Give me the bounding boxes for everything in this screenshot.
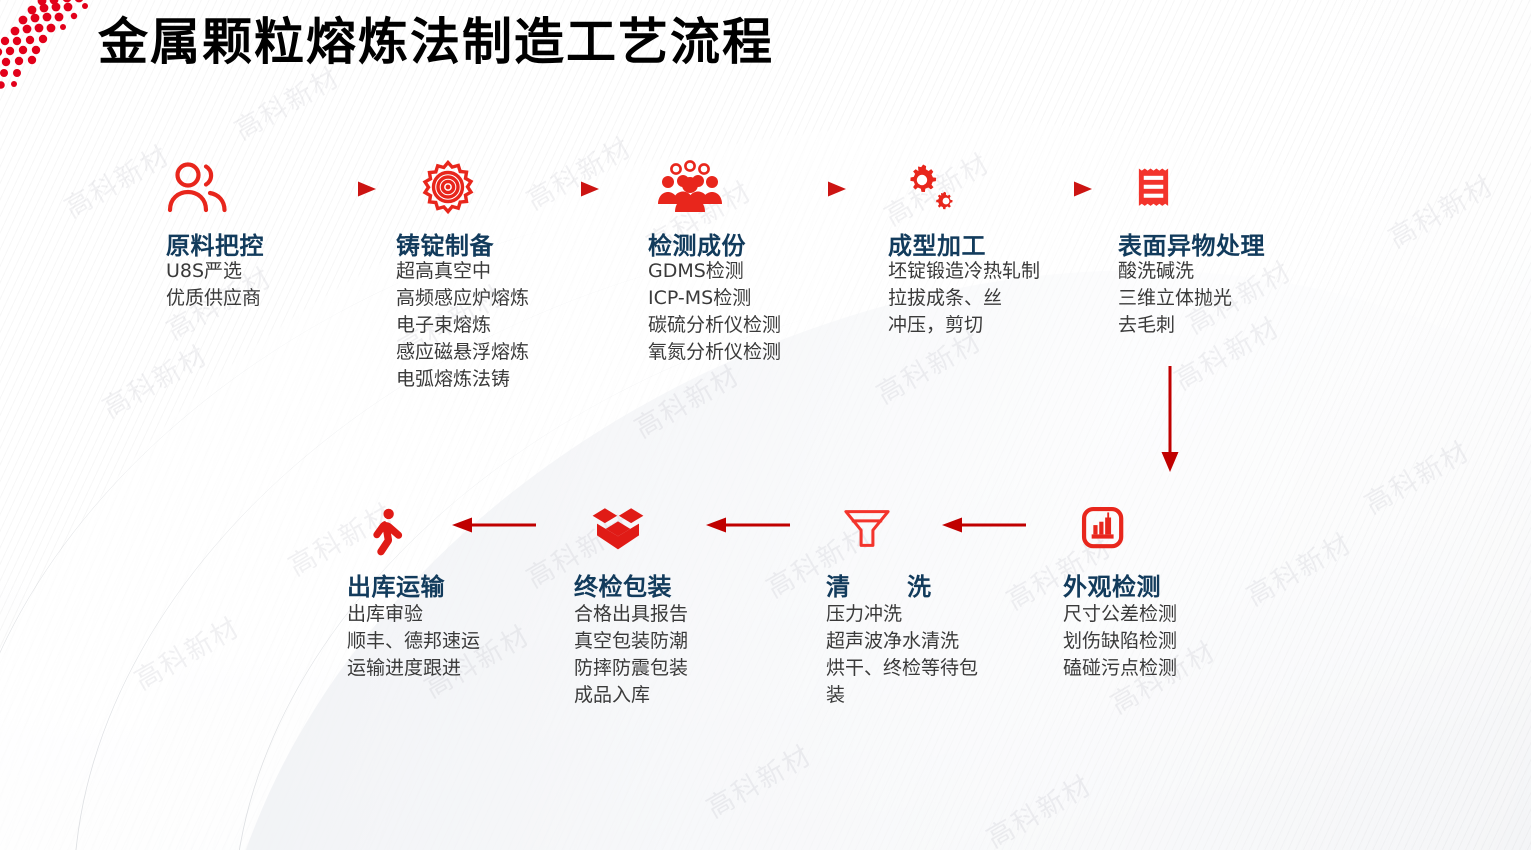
arrow-step3-to-step4 — [762, 178, 852, 200]
flow-step-detail-line: 磕碰污点检测 — [1063, 655, 1273, 682]
process-flow-diagram: 原料把控 U8S严选 优质供应商 铸锭制备 超高真空中 高频感应炉熔炼 电子束熔… — [0, 0, 1531, 850]
flow-step-detail-line: 出库审验 — [347, 601, 557, 628]
flow-step-detail-line: 拉拔成条、丝 — [888, 285, 1118, 312]
flow-step-detail-line: 超声波净水清洗 — [826, 628, 986, 655]
walking-person-icon — [361, 505, 413, 557]
flow-step-detail-list: 超高真空中 高频感应炉熔炼 电子束熔炼 感应磁悬浮熔炼 电弧熔炼法铸 — [396, 258, 606, 393]
page-header: 金属颗粒熔炼法制造工艺流程 — [0, 0, 1531, 100]
arrow-step8-to-step9 — [448, 514, 540, 536]
flow-step-title: 铸锭制备 — [396, 226, 494, 261]
arrow-step1-to-step2 — [292, 178, 382, 200]
flow-step-detail-line: 去毛刺 — [1118, 312, 1328, 339]
gear-target-icon — [416, 160, 480, 218]
flow-step-detail-list: 合格出具报告 真空包装防潮 防摔防震包装 成品入库 — [574, 601, 784, 709]
flow-step-detail-line: 超高真空中 — [396, 258, 606, 285]
flow-step-detail-line: 合格出具报告 — [574, 601, 784, 628]
two-gears-icon — [896, 160, 960, 218]
flow-step-detail-line: 压力冲洗 — [826, 601, 986, 628]
flow-step-detail-line: 坯锭锻造冷热轧制 — [888, 258, 1118, 285]
flow-step-detail-list: GDMS检测 ICP-MS检测 碳硫分析仪检测 氧氮分析仪检测 — [648, 258, 858, 366]
flow-step-detail-list: 出库审验 顺丰、德邦速运 运输进度跟进 — [347, 601, 557, 682]
flow-step-title: 出库运输 — [347, 567, 445, 602]
arrow-step5-to-step6-vertical — [1152, 364, 1188, 476]
arrow-step6-to-step7 — [938, 514, 1030, 536]
flow-step-detail-line: 尺寸公差检测 — [1063, 601, 1273, 628]
flow-step-detail-line: 高频感应炉熔炼 — [396, 285, 606, 312]
flow-step-detail-line: 电子束熔炼 — [396, 312, 606, 339]
flow-step-detail-line: 划伤缺陷检测 — [1063, 628, 1273, 655]
flow-step-detail-line: U8S严选 — [166, 258, 376, 285]
flow-step-detail-line: 顺丰、德邦速运 — [347, 628, 557, 655]
flow-step-detail-line: 酸洗碱洗 — [1118, 258, 1328, 285]
flow-step-title: 终检包装 — [574, 567, 672, 602]
flow-step-detail-line: 电弧熔炼法铸 — [396, 366, 606, 393]
flow-step-detail-line: 三维立体抛光 — [1118, 285, 1328, 312]
flow-step-detail-line: 烘干、终检等待包装 — [826, 655, 986, 709]
open-box-icon — [590, 505, 646, 557]
flow-step-detail-line: 成品入库 — [574, 682, 784, 709]
flow-step-detail-line: 感应磁悬浮熔炼 — [396, 339, 606, 366]
flow-step-detail-line: 冲压，剪切 — [888, 312, 1118, 339]
flow-step-detail-line: 优质供应商 — [166, 285, 376, 312]
flow-step-detail-line: ICP-MS检测 — [648, 285, 858, 312]
flow-step-detail-line: 防摔防震包装 — [574, 655, 784, 682]
arrow-step7-to-step8 — [702, 514, 794, 536]
flow-step-detail-line: 运输进度跟进 — [347, 655, 557, 682]
funnel-icon — [840, 505, 894, 557]
flow-step-detail-line: 氧氮分析仪检测 — [648, 339, 858, 366]
flow-step-detail-line: 碳硫分析仪检测 — [648, 312, 858, 339]
arrow-step2-to-step3 — [515, 178, 605, 200]
flow-step-title: 检测成份 — [648, 226, 746, 261]
arrow-step4-to-step5 — [1004, 178, 1099, 200]
flow-step-title: 成型加工 — [888, 226, 986, 261]
two-people-icon — [166, 160, 230, 218]
flow-step-detail-line: GDMS检测 — [648, 258, 858, 285]
flow-step-detail-list: 酸洗碱洗 三维立体抛光 去毛刺 — [1118, 258, 1328, 339]
flow-step-title: 外观检测 — [1063, 567, 1161, 602]
ticket-document-icon — [1134, 160, 1186, 216]
flow-step-title: 表面异物处理 — [1118, 226, 1265, 261]
page-title: 金属颗粒熔炼法制造工艺流程 — [98, 2, 774, 74]
flow-step-title: 清 洗 — [826, 567, 934, 602]
flow-step-detail-list: 坯锭锻造冷热轧制 拉拔成条、丝 冲压，剪切 — [888, 258, 1118, 339]
factory-badge-icon — [1079, 505, 1133, 557]
people-group-icon — [658, 160, 722, 218]
flow-step-detail-list: 压力冲洗 超声波净水清洗 烘干、终检等待包装 — [826, 601, 986, 709]
flow-step-title: 原料把控 — [166, 226, 264, 261]
flow-step-detail-list: U8S严选 优质供应商 — [166, 258, 376, 312]
flow-step-detail-list: 尺寸公差检测 划伤缺陷检测 磕碰污点检测 — [1063, 601, 1273, 682]
flow-step-detail-line: 真空包装防潮 — [574, 628, 784, 655]
